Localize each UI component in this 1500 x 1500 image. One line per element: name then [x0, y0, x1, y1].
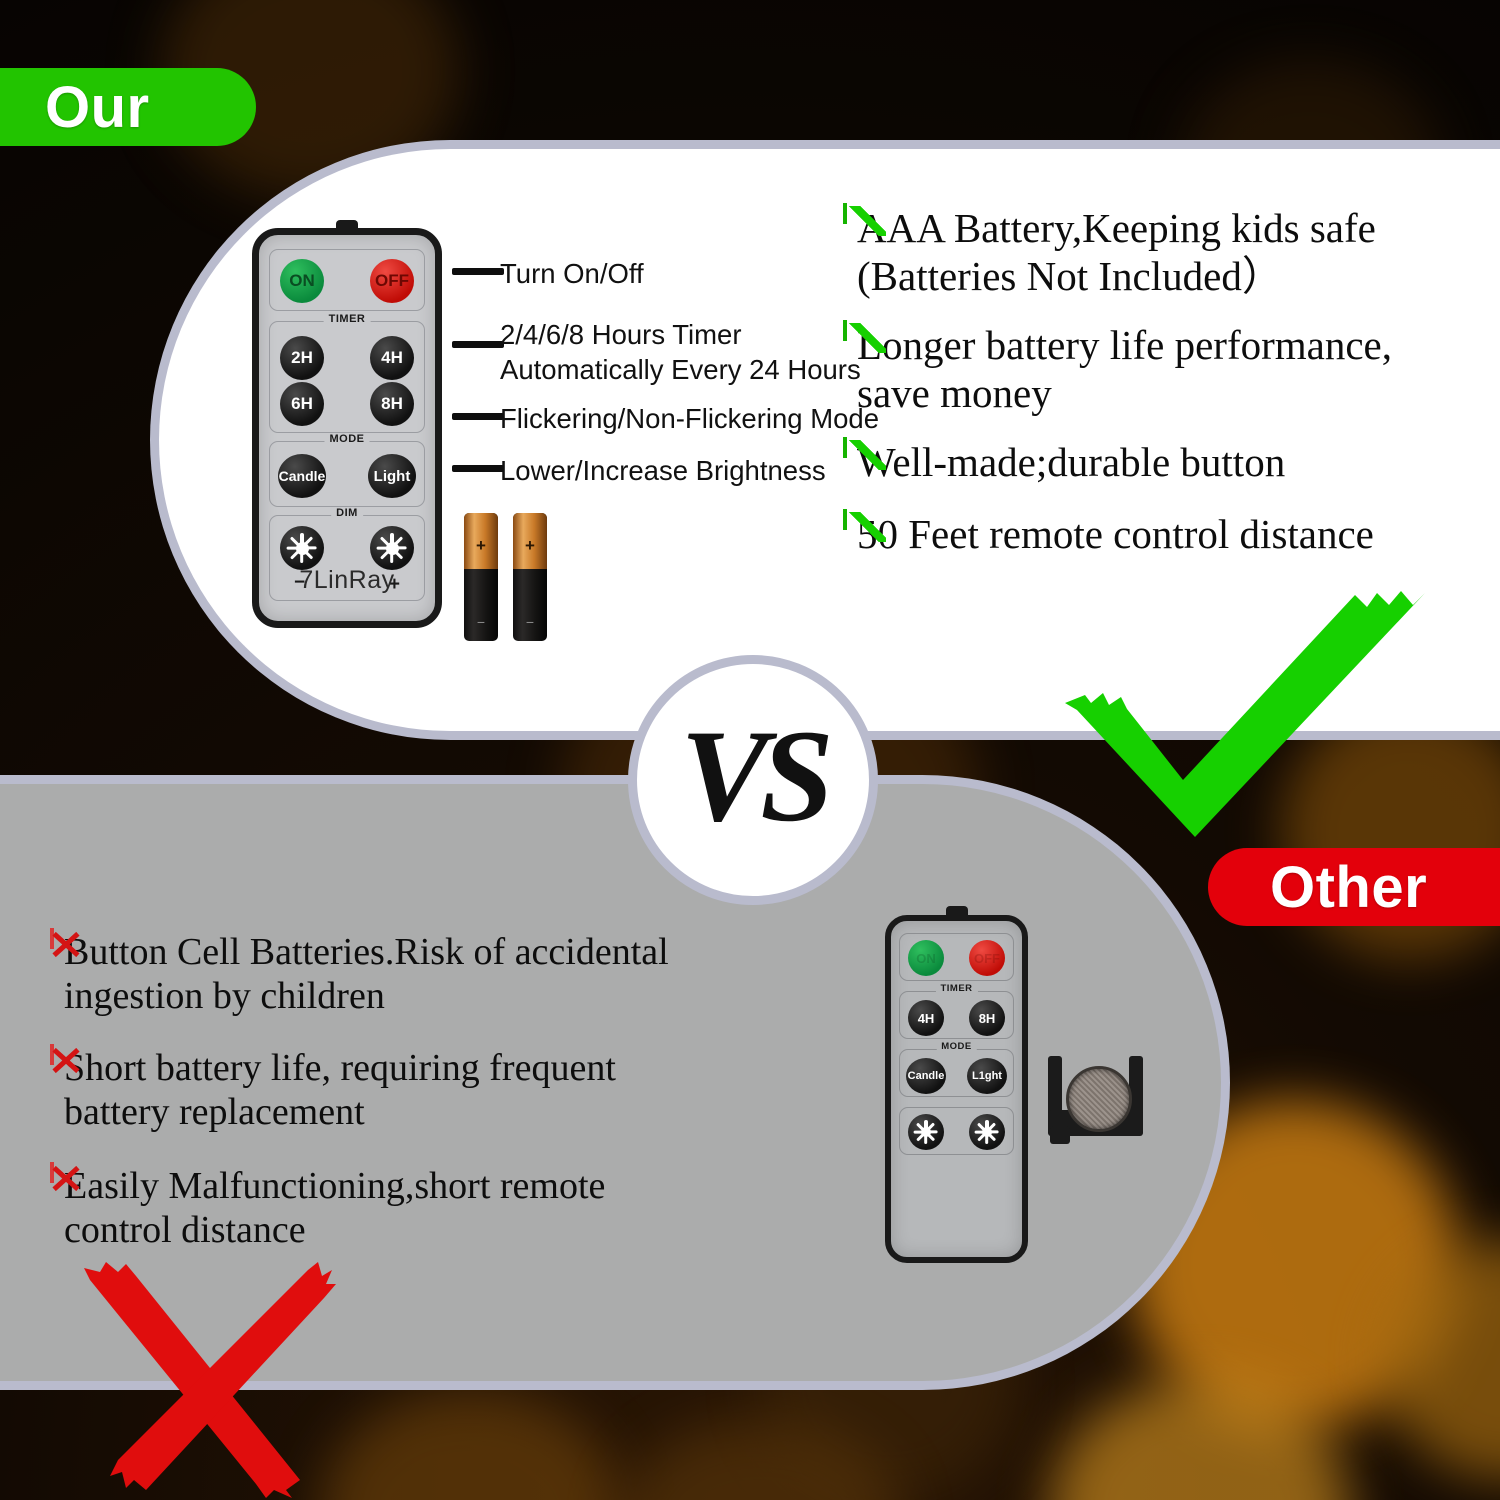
on-button[interactable]: ON	[280, 259, 324, 303]
callout-dash	[452, 465, 504, 472]
cons-list: Button Cell Batteries.Risk of accidental…	[50, 930, 790, 1252]
list-item: Short battery life, requiring frequent b…	[50, 1046, 790, 1134]
battery-minus: −	[464, 615, 498, 629]
remote-brand: 7LinRay	[259, 566, 435, 595]
infographic-canvas: Our ON OFF TIMER 2H 4H 6H 8H MODE Candle…	[0, 0, 1500, 1500]
mode-group: MODE Candle Light	[269, 441, 425, 507]
pros-text: AAA Battery,Keeping kids safe (Batteries…	[857, 205, 1376, 300]
list-item: Easily Malfunctioning,short remote contr…	[50, 1164, 790, 1252]
list-item: AAA Battery,Keeping kids safe (Batteries…	[843, 205, 1500, 300]
cross-icon	[50, 1046, 54, 1064]
timer-group: TIMER 2H 4H 6H 8H	[269, 321, 425, 433]
pros-text: Longer battery life performance, save mo…	[857, 322, 1392, 417]
list-item: 50 Feet remote control distance	[843, 511, 1500, 559]
mode-light-button[interactable]: Light	[368, 454, 416, 498]
power-group: ON OFF	[899, 933, 1014, 981]
badge-our: Our	[0, 68, 256, 146]
battery-plus: +	[513, 537, 547, 554]
our-remote: ON OFF TIMER 2H 4H 6H 8H MODE Candle Lig…	[252, 228, 442, 628]
pros-list: AAA Battery,Keeping kids safe (Batteries…	[843, 205, 1500, 558]
timer-label: TIMER	[935, 983, 977, 994]
vs-badge: VS	[628, 655, 878, 905]
pros-text: 50 Feet remote control distance	[857, 511, 1374, 559]
check-icon	[843, 322, 847, 340]
cross-icon	[50, 930, 54, 948]
dim-label: DIM	[331, 507, 363, 519]
big-cross-brush-icon	[60, 1258, 350, 1498]
sun-icon	[287, 533, 317, 563]
callout-power: Turn On/Off	[500, 256, 644, 291]
aaa-battery: + −	[464, 513, 498, 641]
battery-minus: −	[513, 615, 547, 629]
cons-text: Short battery life, requiring frequent b…	[64, 1046, 616, 1134]
list-item: Longer battery life performance, save mo…	[843, 322, 1500, 417]
callout-mode: Flickering/Non-Flickering Mode	[500, 401, 879, 436]
on-button[interactable]: ON	[908, 940, 944, 976]
sun-icon	[377, 533, 407, 563]
off-button[interactable]: OFF	[969, 940, 1005, 976]
sun-icon	[914, 1120, 938, 1144]
timer-8h-button[interactable]: 8H	[370, 382, 414, 426]
callout-brightness: Lower/Increase Brightness	[500, 453, 826, 488]
battery-plus: +	[464, 537, 498, 554]
dim-up-button[interactable]	[969, 1114, 1005, 1150]
dim-down-button[interactable]	[908, 1114, 944, 1150]
cross-icon	[50, 1164, 54, 1182]
mode-group: MODE Candle L1ght	[899, 1049, 1014, 1097]
list-item: Well-made;durable button	[843, 439, 1500, 487]
coin-cell	[1066, 1066, 1132, 1132]
dim-group	[899, 1107, 1014, 1155]
mode-light-button[interactable]: L1ght	[967, 1058, 1007, 1094]
remote-ir-nub	[946, 906, 968, 918]
timer-label: TIMER	[324, 313, 371, 325]
other-remote: ON OFF TIMER 4H 8H MODE Candle L1ght	[885, 915, 1028, 1263]
mode-label: MODE	[936, 1041, 977, 1052]
callout-dash	[452, 268, 504, 275]
remote-ir-nub	[336, 220, 358, 232]
callout-timer: 2/4/6/8 Hours Timer Automatically Every …	[500, 317, 861, 387]
timer-2h-button[interactable]: 2H	[280, 336, 324, 380]
mode-candle-button[interactable]: Candle	[278, 454, 326, 498]
mode-candle-button[interactable]: Candle	[906, 1058, 946, 1094]
coin-cell-battery	[1048, 1048, 1143, 1148]
callout-dash	[452, 413, 504, 420]
off-button[interactable]: OFF	[370, 259, 414, 303]
check-icon	[843, 511, 847, 529]
list-item: Button Cell Batteries.Risk of accidental…	[50, 930, 790, 1018]
callout-dash	[452, 341, 504, 348]
badge-our-label: Our	[45, 74, 150, 141]
big-check-brush-icon	[1055, 585, 1435, 875]
aaa-battery: + −	[513, 513, 547, 641]
cons-text: Button Cell Batteries.Risk of accidental…	[64, 930, 669, 1018]
sun-icon	[975, 1120, 999, 1144]
cons-text: Easily Malfunctioning,short remote contr…	[64, 1164, 605, 1252]
power-group: ON OFF	[269, 249, 425, 311]
check-icon	[843, 205, 847, 223]
timer-6h-button[interactable]: 6H	[280, 382, 324, 426]
mode-label: MODE	[325, 433, 370, 445]
timer-4h-button[interactable]: 4H	[908, 1000, 944, 1036]
dim-down-button[interactable]	[280, 526, 324, 570]
timer-group: TIMER 4H 8H	[899, 991, 1014, 1039]
dim-up-button[interactable]	[370, 526, 414, 570]
timer-4h-button[interactable]: 4H	[370, 336, 414, 380]
timer-8h-button[interactable]: 8H	[969, 1000, 1005, 1036]
check-icon	[843, 439, 847, 457]
vs-label: VS	[680, 710, 825, 842]
pros-text: Well-made;durable button	[857, 439, 1285, 487]
